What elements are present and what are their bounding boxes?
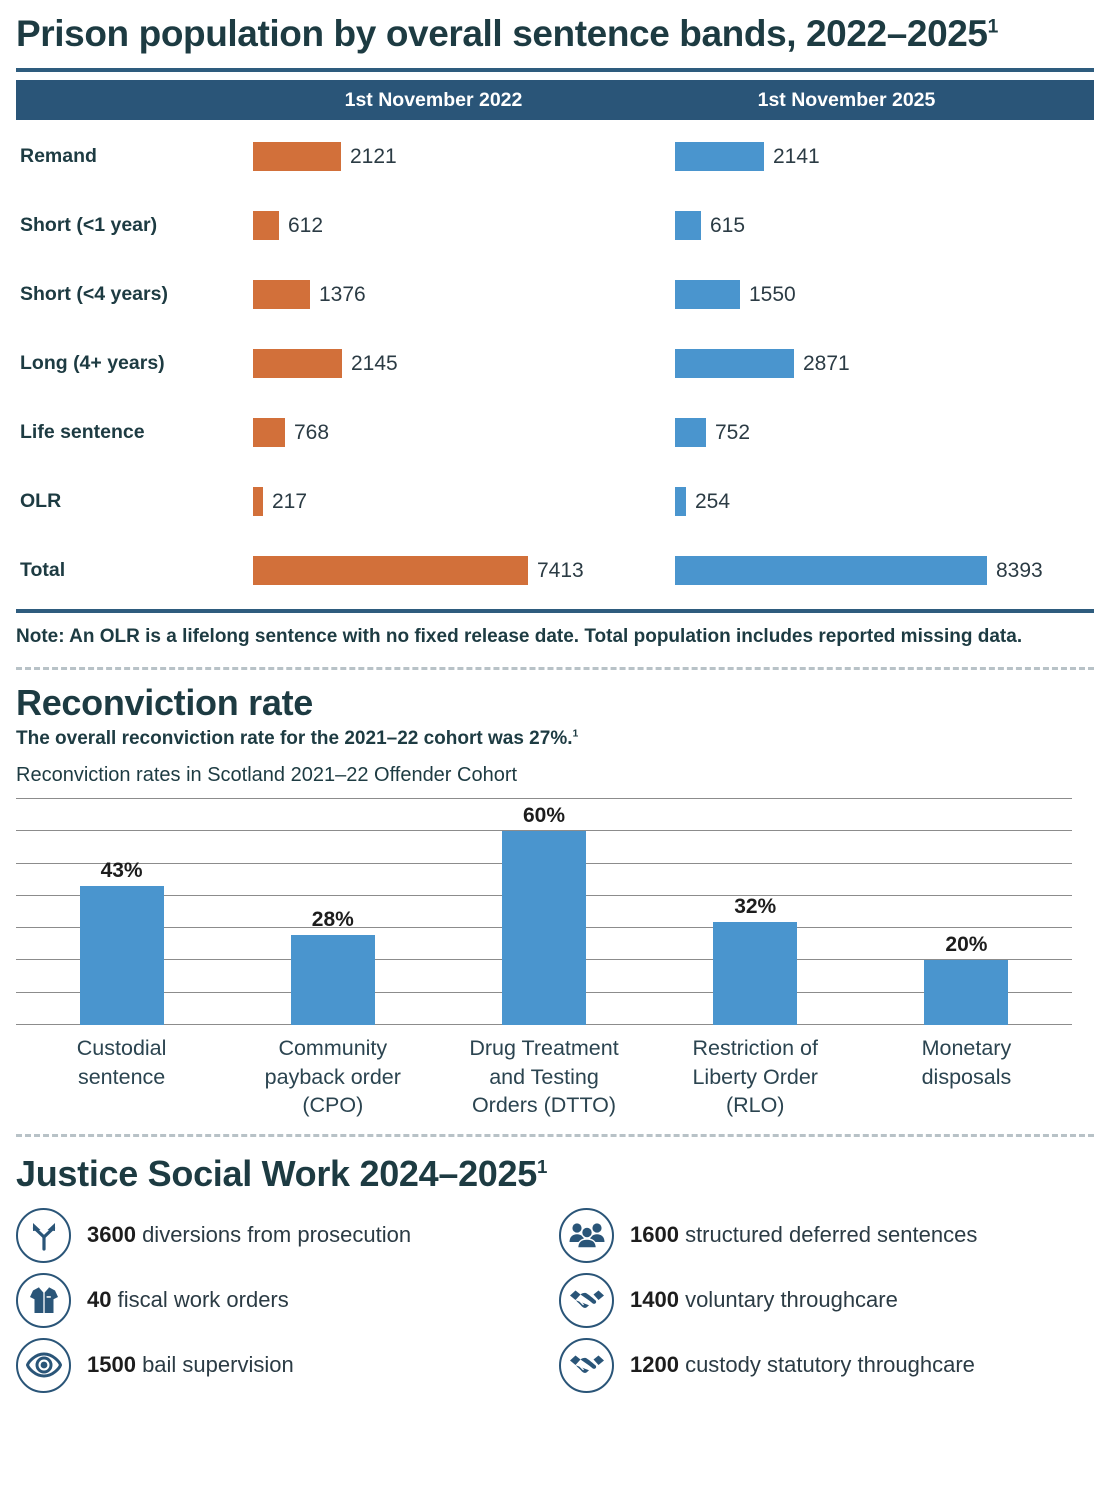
bar-2025 <box>675 487 686 516</box>
handshake-icon <box>559 1273 614 1328</box>
jsw-stats: 3600 diversions from prosecution40 fisca… <box>16 1203 1094 1398</box>
chart-bar <box>924 960 1008 1025</box>
table-header-col-2022: 1st November 2022 <box>228 89 639 112</box>
bar-2025 <box>675 556 987 585</box>
stat-item: 3600 diversions from prosecution <box>16 1203 551 1268</box>
bar-group-2025: 752 <box>639 418 1094 447</box>
x-axis-label: Monetarydisposals <box>861 1034 1072 1120</box>
bar-2025 <box>675 418 706 447</box>
people-group-icon <box>559 1208 614 1263</box>
bar-value-label: 60% <box>523 804 565 828</box>
chart-bars: 43%28%60%32%20% <box>16 799 1072 1025</box>
table-bottom-divider <box>16 609 1094 613</box>
stat-value: 1600 <box>630 1222 679 1247</box>
bar-2022 <box>253 280 310 309</box>
bar-value-2022: 2121 <box>350 145 397 169</box>
reconviction-chart: 43%28%60%32%20% <box>16 799 1072 1025</box>
diversion-fork-icon <box>16 1208 71 1263</box>
stat-value: 1200 <box>630 1352 679 1377</box>
bar-value-2025: 752 <box>715 421 750 445</box>
handshake-icon <box>559 1338 614 1393</box>
bar-value-2022: 612 <box>288 214 323 238</box>
x-axis-label: Restriction ofLiberty Order(RLO) <box>650 1034 861 1120</box>
chart-bar <box>80 886 164 1025</box>
page-title: Prison population by overall sentence ba… <box>16 0 1094 56</box>
page-title-footnote: 1 <box>988 17 998 38</box>
stat-item: 1600 structured deferred sentences <box>559 1203 1094 1268</box>
row-label: Short (<4 years) <box>16 283 228 306</box>
stat-text: 1400 voluntary throughcare <box>630 1287 898 1313</box>
table-row: Total74138393 <box>16 536 1094 605</box>
chart-bar-cell: 60% <box>438 799 649 1025</box>
table-row: Life sentence768752 <box>16 398 1094 467</box>
section-divider-1 <box>16 667 1094 670</box>
reconviction-subtitle-footnote: 1 <box>573 729 579 740</box>
stat-item: 1400 voluntary throughcare <box>559 1268 1094 1333</box>
bar-group-2022: 2121 <box>228 142 639 171</box>
chart-x-axis-labels: CustodialsentenceCommunitypayback order(… <box>16 1034 1072 1120</box>
bar-group-2025: 8393 <box>639 556 1094 585</box>
bar-2022 <box>253 211 279 240</box>
chart-bar-cell: 43% <box>16 799 227 1025</box>
title-divider <box>16 68 1094 72</box>
work-shirt-icon <box>16 1273 71 1328</box>
chart-bar <box>502 831 586 1025</box>
reconviction-subtitle-text: The overall reconviction rate for the 20… <box>16 728 573 749</box>
x-axis-label: Drug Treatmentand TestingOrders (DTTO) <box>438 1034 649 1120</box>
bar-group-2025: 254 <box>639 487 1094 516</box>
table-row: Short (<4 years)13761550 <box>16 260 1094 329</box>
table-row: Short (<1 year)612615 <box>16 191 1094 260</box>
chart-bar-cell: 32% <box>650 799 861 1025</box>
bar-group-2025: 1550 <box>639 280 1094 309</box>
bar-2025 <box>675 142 764 171</box>
bar-group-2022: 217 <box>228 487 639 516</box>
row-label: Long (4+ years) <box>16 352 228 375</box>
table-row: Long (4+ years)21452871 <box>16 329 1094 398</box>
bar-group-2025: 615 <box>639 211 1094 240</box>
jsw-title-footnote: 1 <box>537 1156 547 1177</box>
bar-group-2025: 2141 <box>639 142 1094 171</box>
table-row: OLR217254 <box>16 467 1094 536</box>
bar-value-label: 32% <box>734 895 776 919</box>
jsw-stats-right-column: 1600 structured deferred sentences1400 v… <box>551 1203 1094 1398</box>
reconviction-chart-caption: Reconviction rates in Scotland 2021–22 O… <box>16 764 1094 787</box>
bar-value-2022: 2145 <box>351 352 398 376</box>
bar-value-label: 43% <box>101 859 143 883</box>
bar-group-2025: 2871 <box>639 349 1094 378</box>
stat-text: 1500 bail supervision <box>87 1352 294 1378</box>
row-label: Short (<1 year) <box>16 214 228 237</box>
jsw-title: Justice Social Work 2024–20251 <box>16 1153 1094 1195</box>
infographic-page: Prison population by overall sentence ba… <box>0 0 1110 1496</box>
bar-group-2022: 768 <box>228 418 639 447</box>
x-axis-label: Communitypayback order(CPO) <box>227 1034 438 1120</box>
bar-2022 <box>253 142 341 171</box>
stat-value: 40 <box>87 1287 111 1312</box>
bar-2022 <box>253 556 528 585</box>
row-label: Remand <box>16 145 228 168</box>
bar-value-2022: 1376 <box>319 283 366 307</box>
bar-value-2025: 8393 <box>996 559 1043 583</box>
row-label: OLR <box>16 490 228 513</box>
jsw-title-text: Justice Social Work 2024–2025 <box>16 1153 537 1194</box>
row-label: Total <box>16 559 228 582</box>
bar-group-2022: 2145 <box>228 349 639 378</box>
bar-2022 <box>253 418 285 447</box>
stat-text: 1200 custody statutory throughcare <box>630 1352 975 1378</box>
bar-value-label: 20% <box>945 933 987 957</box>
table-header: 1st November 2022 1st November 2025 <box>16 80 1094 120</box>
bar-value-2022: 7413 <box>537 559 584 583</box>
stat-value: 1400 <box>630 1287 679 1312</box>
stat-text: 3600 diversions from prosecution <box>87 1222 411 1248</box>
stat-item: 40 fiscal work orders <box>16 1268 551 1333</box>
row-label: Life sentence <box>16 421 228 444</box>
table-header-col-2025: 1st November 2025 <box>639 89 1094 112</box>
stat-value: 1500 <box>87 1352 136 1377</box>
page-title-text: Prison population by overall sentence ba… <box>16 13 988 54</box>
jsw-stats-left-column: 3600 diversions from prosecution40 fisca… <box>16 1203 551 1398</box>
chart-bar-cell: 20% <box>861 799 1072 1025</box>
bar-2022 <box>253 349 342 378</box>
bar-group-2022: 1376 <box>228 280 639 309</box>
stat-value: 3600 <box>87 1222 136 1247</box>
bar-value-2025: 1550 <box>749 283 796 307</box>
stat-text: 40 fiscal work orders <box>87 1287 289 1313</box>
chart-bar <box>713 922 797 1025</box>
bar-value-2022: 217 <box>272 490 307 514</box>
bar-2025 <box>675 280 740 309</box>
prison-population-rows: Remand21212141Short (<1 year)612615Short… <box>16 122 1094 605</box>
eye-icon <box>16 1338 71 1393</box>
table-row: Remand21212141 <box>16 122 1094 191</box>
bar-value-2022: 768 <box>294 421 329 445</box>
bar-2022 <box>253 487 263 516</box>
stat-text: 1600 structured deferred sentences <box>630 1222 977 1248</box>
section-divider-2 <box>16 1134 1094 1137</box>
bar-value-2025: 2871 <box>803 352 850 376</box>
reconviction-subtitle: The overall reconviction rate for the 20… <box>16 728 1094 750</box>
chart-bar <box>291 935 375 1025</box>
bar-value-2025: 615 <box>710 214 745 238</box>
bar-value-label: 28% <box>312 908 354 932</box>
bar-group-2022: 612 <box>228 211 639 240</box>
bar-2025 <box>675 349 794 378</box>
bar-2025 <box>675 211 701 240</box>
chart-bar-cell: 28% <box>227 799 438 1025</box>
reconviction-title: Reconviction rate <box>16 682 1094 724</box>
bar-value-2025: 254 <box>695 490 730 514</box>
bar-value-2025: 2141 <box>773 145 820 169</box>
table-note: Note: An OLR is a lifelong sentence with… <box>16 624 1094 650</box>
bar-group-2022: 7413 <box>228 556 639 585</box>
x-axis-label: Custodialsentence <box>16 1034 227 1120</box>
stat-item: 1200 custody statutory throughcare <box>559 1333 1094 1398</box>
stat-item: 1500 bail supervision <box>16 1333 551 1398</box>
